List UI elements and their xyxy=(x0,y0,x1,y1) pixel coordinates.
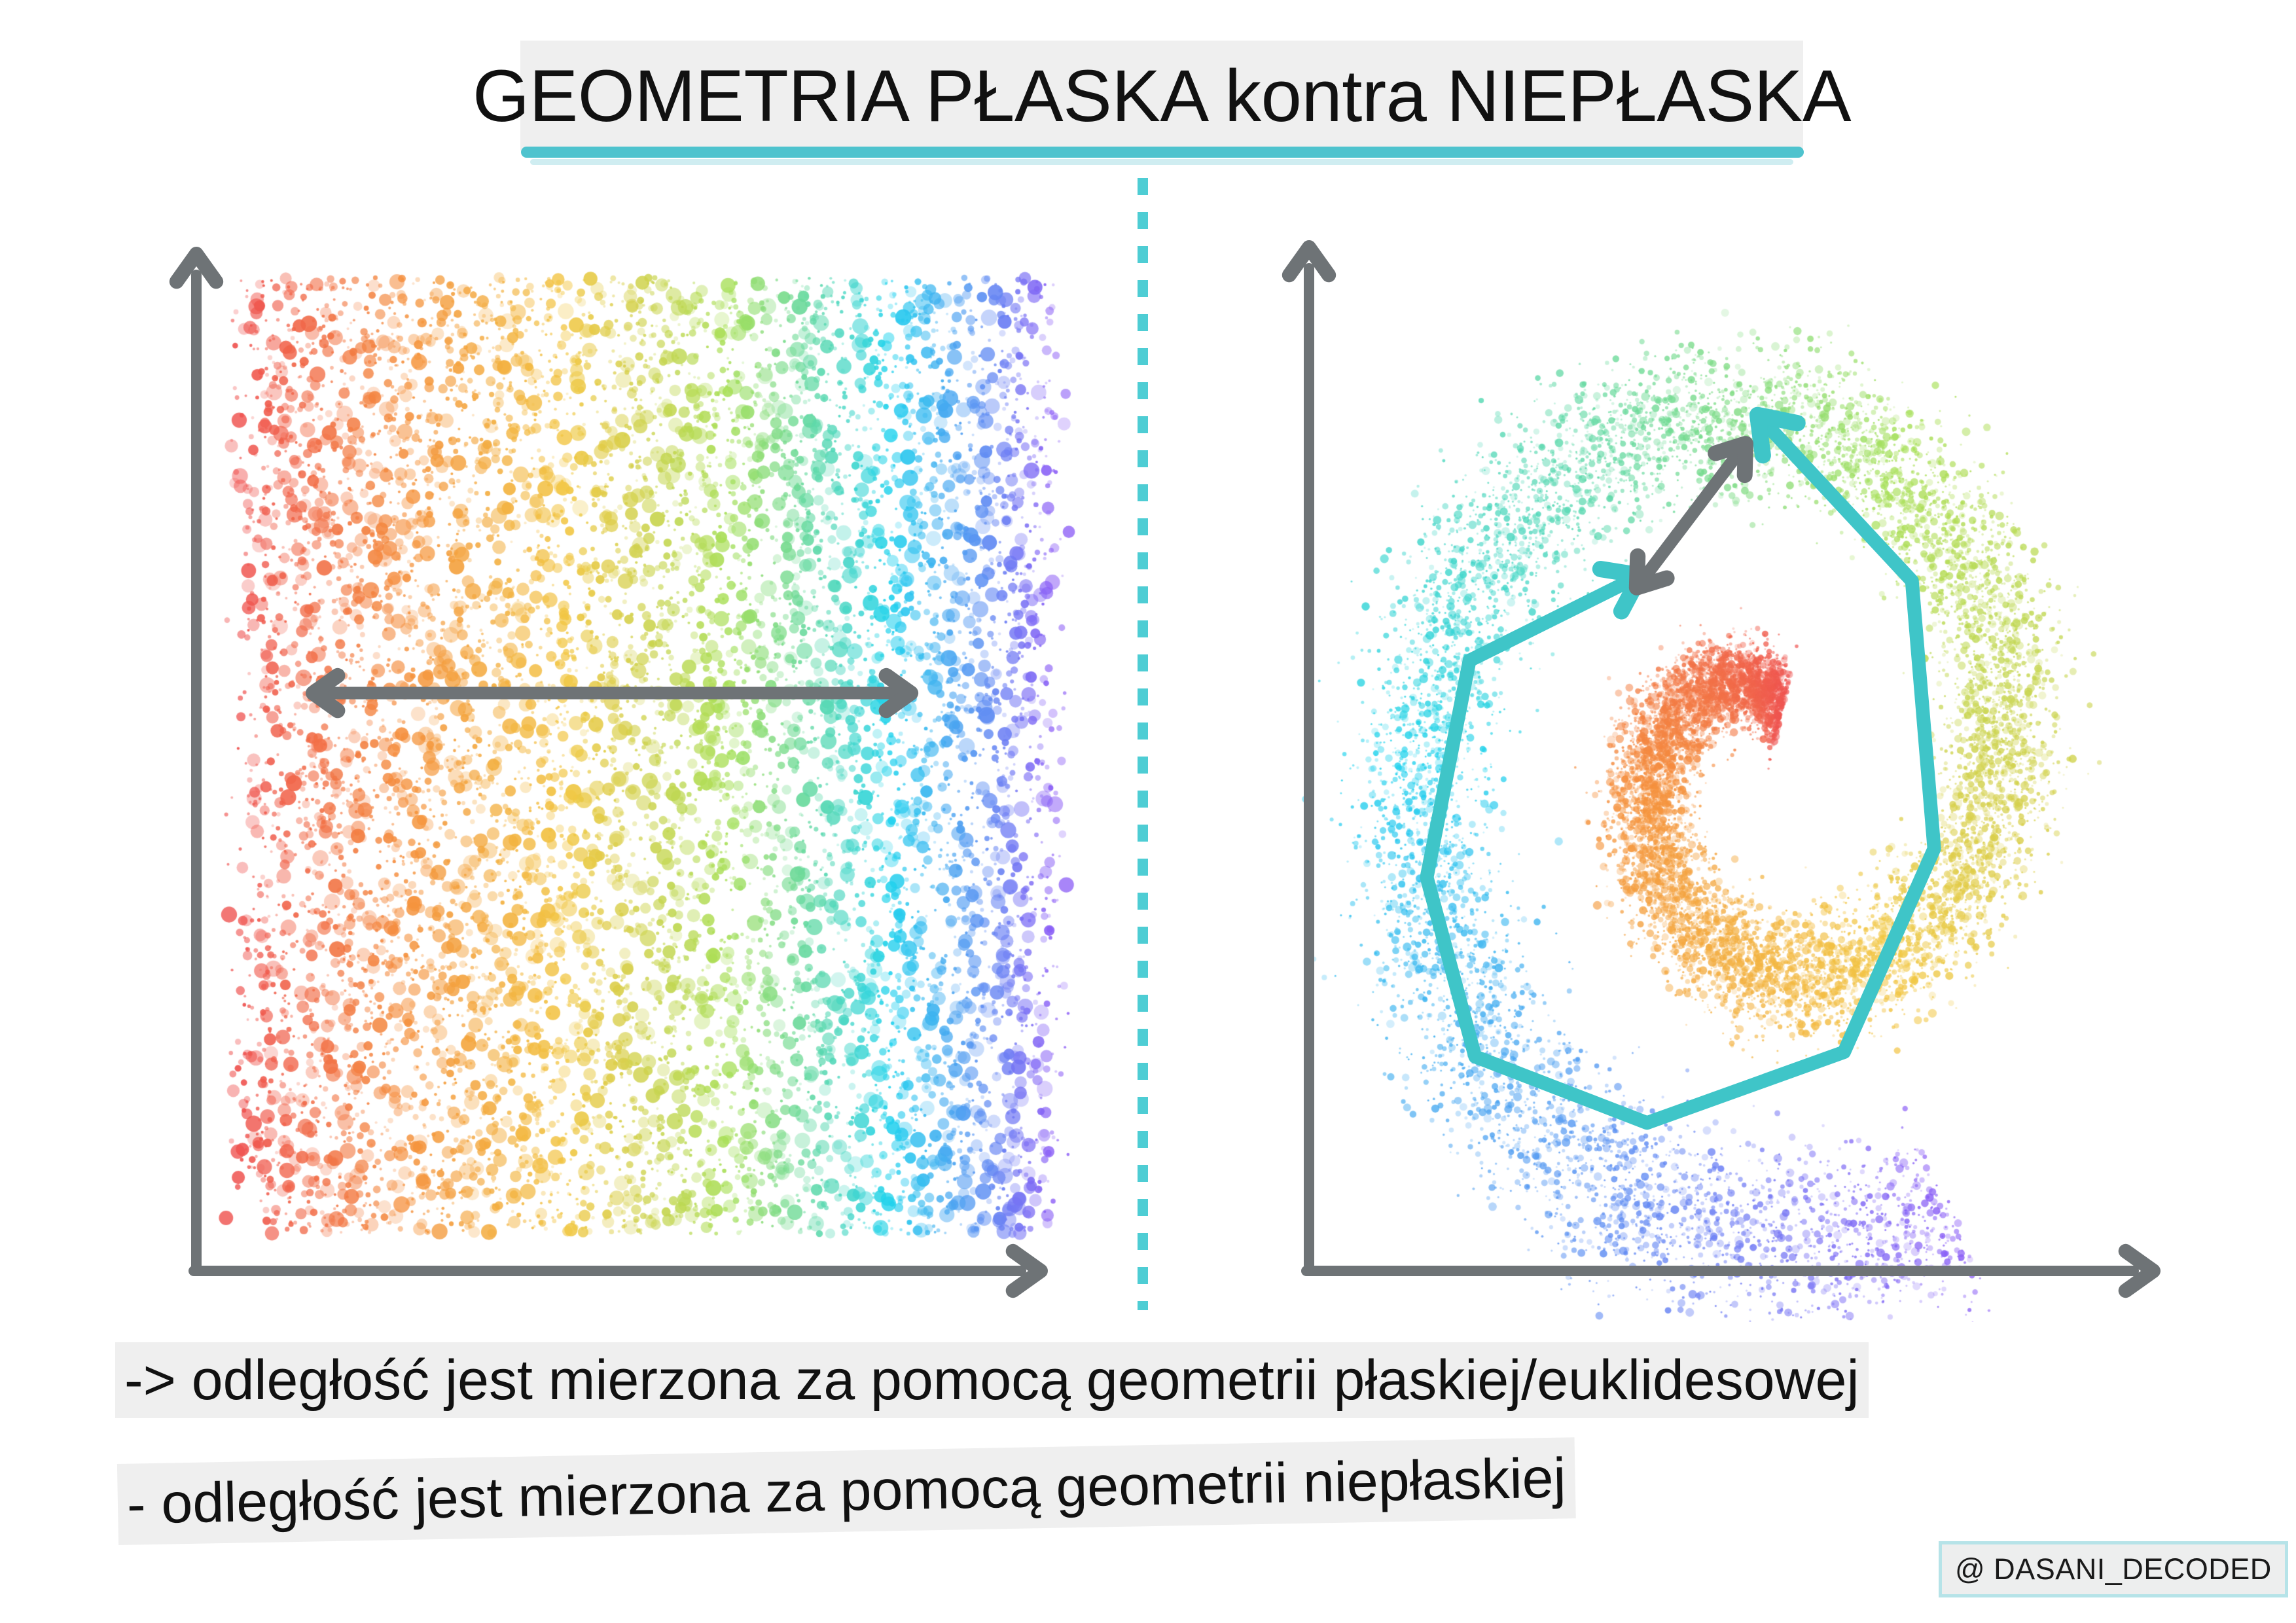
title-underline-shadow xyxy=(530,159,1793,165)
vertical-dashed-divider xyxy=(1138,178,1148,1310)
euclidean-shortcut-line xyxy=(1648,459,1734,573)
page-title: GEOMETRIA PŁASKA kontra NIEPŁASKA xyxy=(520,41,1803,151)
flat-geometry-overlay xyxy=(151,223,1080,1322)
page-title-block: GEOMETRIA PŁASKA kontra NIEPŁASKA xyxy=(520,41,1803,151)
non-flat-geometry-overlay xyxy=(1263,216,2193,1322)
caption-non-flat-distance: - odległość jest mierzona za pomocą geom… xyxy=(117,1437,1576,1545)
euclidean-shortcut-arrow xyxy=(1637,444,1746,588)
flat-geometry-panel xyxy=(151,223,1080,1322)
non-flat-geometry-panel xyxy=(1263,216,2193,1322)
caption-euclidean-distance: -> odległość jest mierzona za pomocą geo… xyxy=(115,1342,1869,1418)
watermark-handle: @ DASANI_DECODED xyxy=(1939,1541,2288,1597)
title-underline-bar xyxy=(521,147,1804,158)
euclidean-distance-arrow xyxy=(314,675,911,711)
